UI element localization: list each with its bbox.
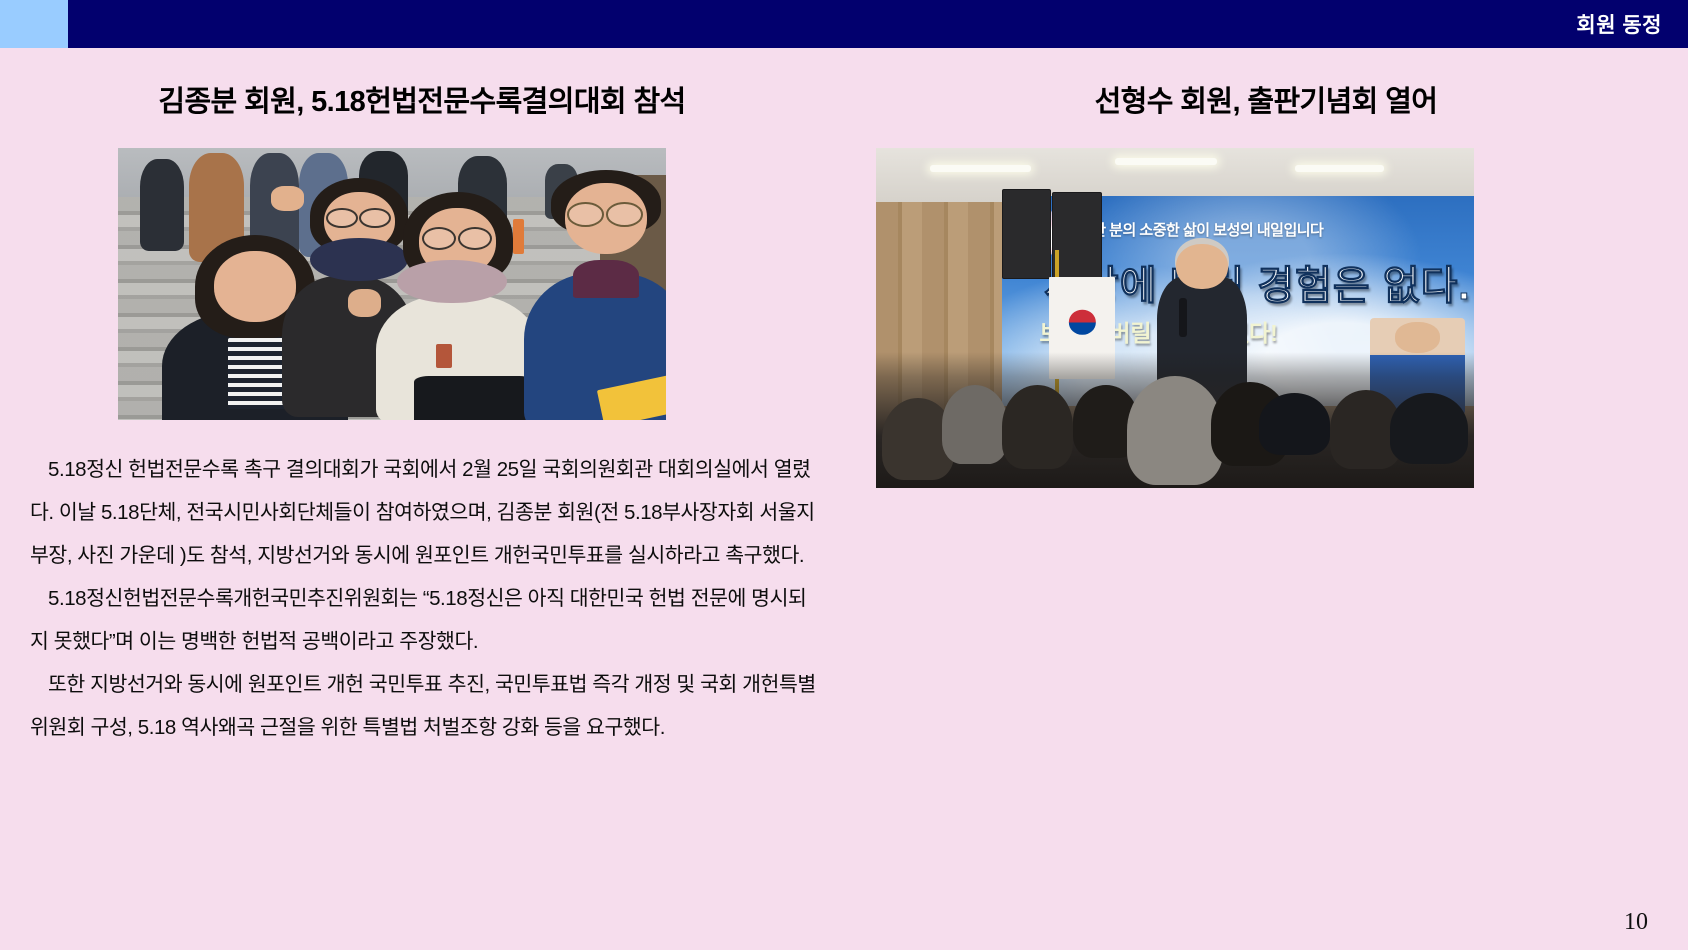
section-title: 회원 동정 — [1576, 9, 1662, 39]
photo-raised-fist — [348, 289, 381, 316]
photo-raised-fist — [271, 186, 304, 210]
page-canvas: 김종분 회원, 5.18헌법전문수록결의대회 참석 — [0, 48, 1688, 950]
photo-eyeglasses — [606, 202, 643, 226]
paragraph: 5.18정신 헌법전문수록 촉구 결의대회가 국회에서 2월 25일 국회의원회… — [30, 448, 820, 577]
photo-audience — [876, 352, 1474, 488]
article-left-photo — [118, 148, 666, 420]
photo-ceiling — [876, 148, 1474, 202]
photo-eyeglasses — [458, 227, 492, 250]
photo-eyeglasses — [422, 227, 456, 250]
header-accent-strip: 회원 동정 — [0, 0, 1688, 48]
photo-audience-head — [942, 385, 1008, 464]
article-right-photo: 한 분 한 분의 소중한 삶이 보성의 내일입니다 세상에 버릴 경험은 없다.… — [876, 148, 1474, 488]
photo-loudspeaker — [1052, 192, 1102, 282]
photo-background-figure — [140, 159, 184, 251]
photo-ceiling-light — [930, 165, 1032, 172]
photo-audience-head-cap — [1259, 393, 1331, 456]
photo-audience-head — [1127, 376, 1223, 485]
article-left-title: 김종분 회원, 5.18헌법전문수록결의대회 참석 — [0, 78, 844, 120]
photo-audience-head — [1002, 385, 1074, 469]
photo-eyeglasses — [567, 202, 604, 226]
photo-ceiling-light — [1115, 158, 1217, 165]
article-right-title: 선형수 회원, 출판기념회 열어 — [844, 78, 1688, 120]
photo-eyeglasses — [359, 208, 390, 228]
photo-name-tag — [436, 344, 452, 368]
photo-ceiling-light — [1295, 165, 1385, 172]
photo-collar — [573, 260, 639, 298]
paragraph: 5.18정신헌법전문수록개헌국민추진위원회는 “5.18정신은 아직 대한민국 … — [30, 577, 820, 663]
photo-loudspeaker — [1002, 189, 1052, 279]
photo-microphone — [1179, 298, 1187, 337]
photo-person-face — [214, 251, 296, 322]
photo-eyeglasses — [326, 208, 357, 228]
photo-speaker-head — [1176, 244, 1228, 289]
header-bar: 회원 동정 — [68, 0, 1688, 48]
page-number: 10 — [1624, 909, 1648, 936]
article-left-body: 5.18정신 헌법전문수록 촉구 결의대회가 국회에서 2월 25일 국회의원회… — [30, 448, 820, 749]
photo-scarf — [397, 260, 507, 304]
photo-orange-cone — [513, 219, 524, 254]
photo-bag — [414, 376, 535, 420]
paragraph: 또한 지방선거와 동시에 원포인트 개헌 국민투표 추진, 국민투표법 즉각 개… — [30, 663, 820, 749]
photo-audience-head-cap — [1390, 393, 1468, 464]
photo-scarf — [310, 238, 409, 282]
